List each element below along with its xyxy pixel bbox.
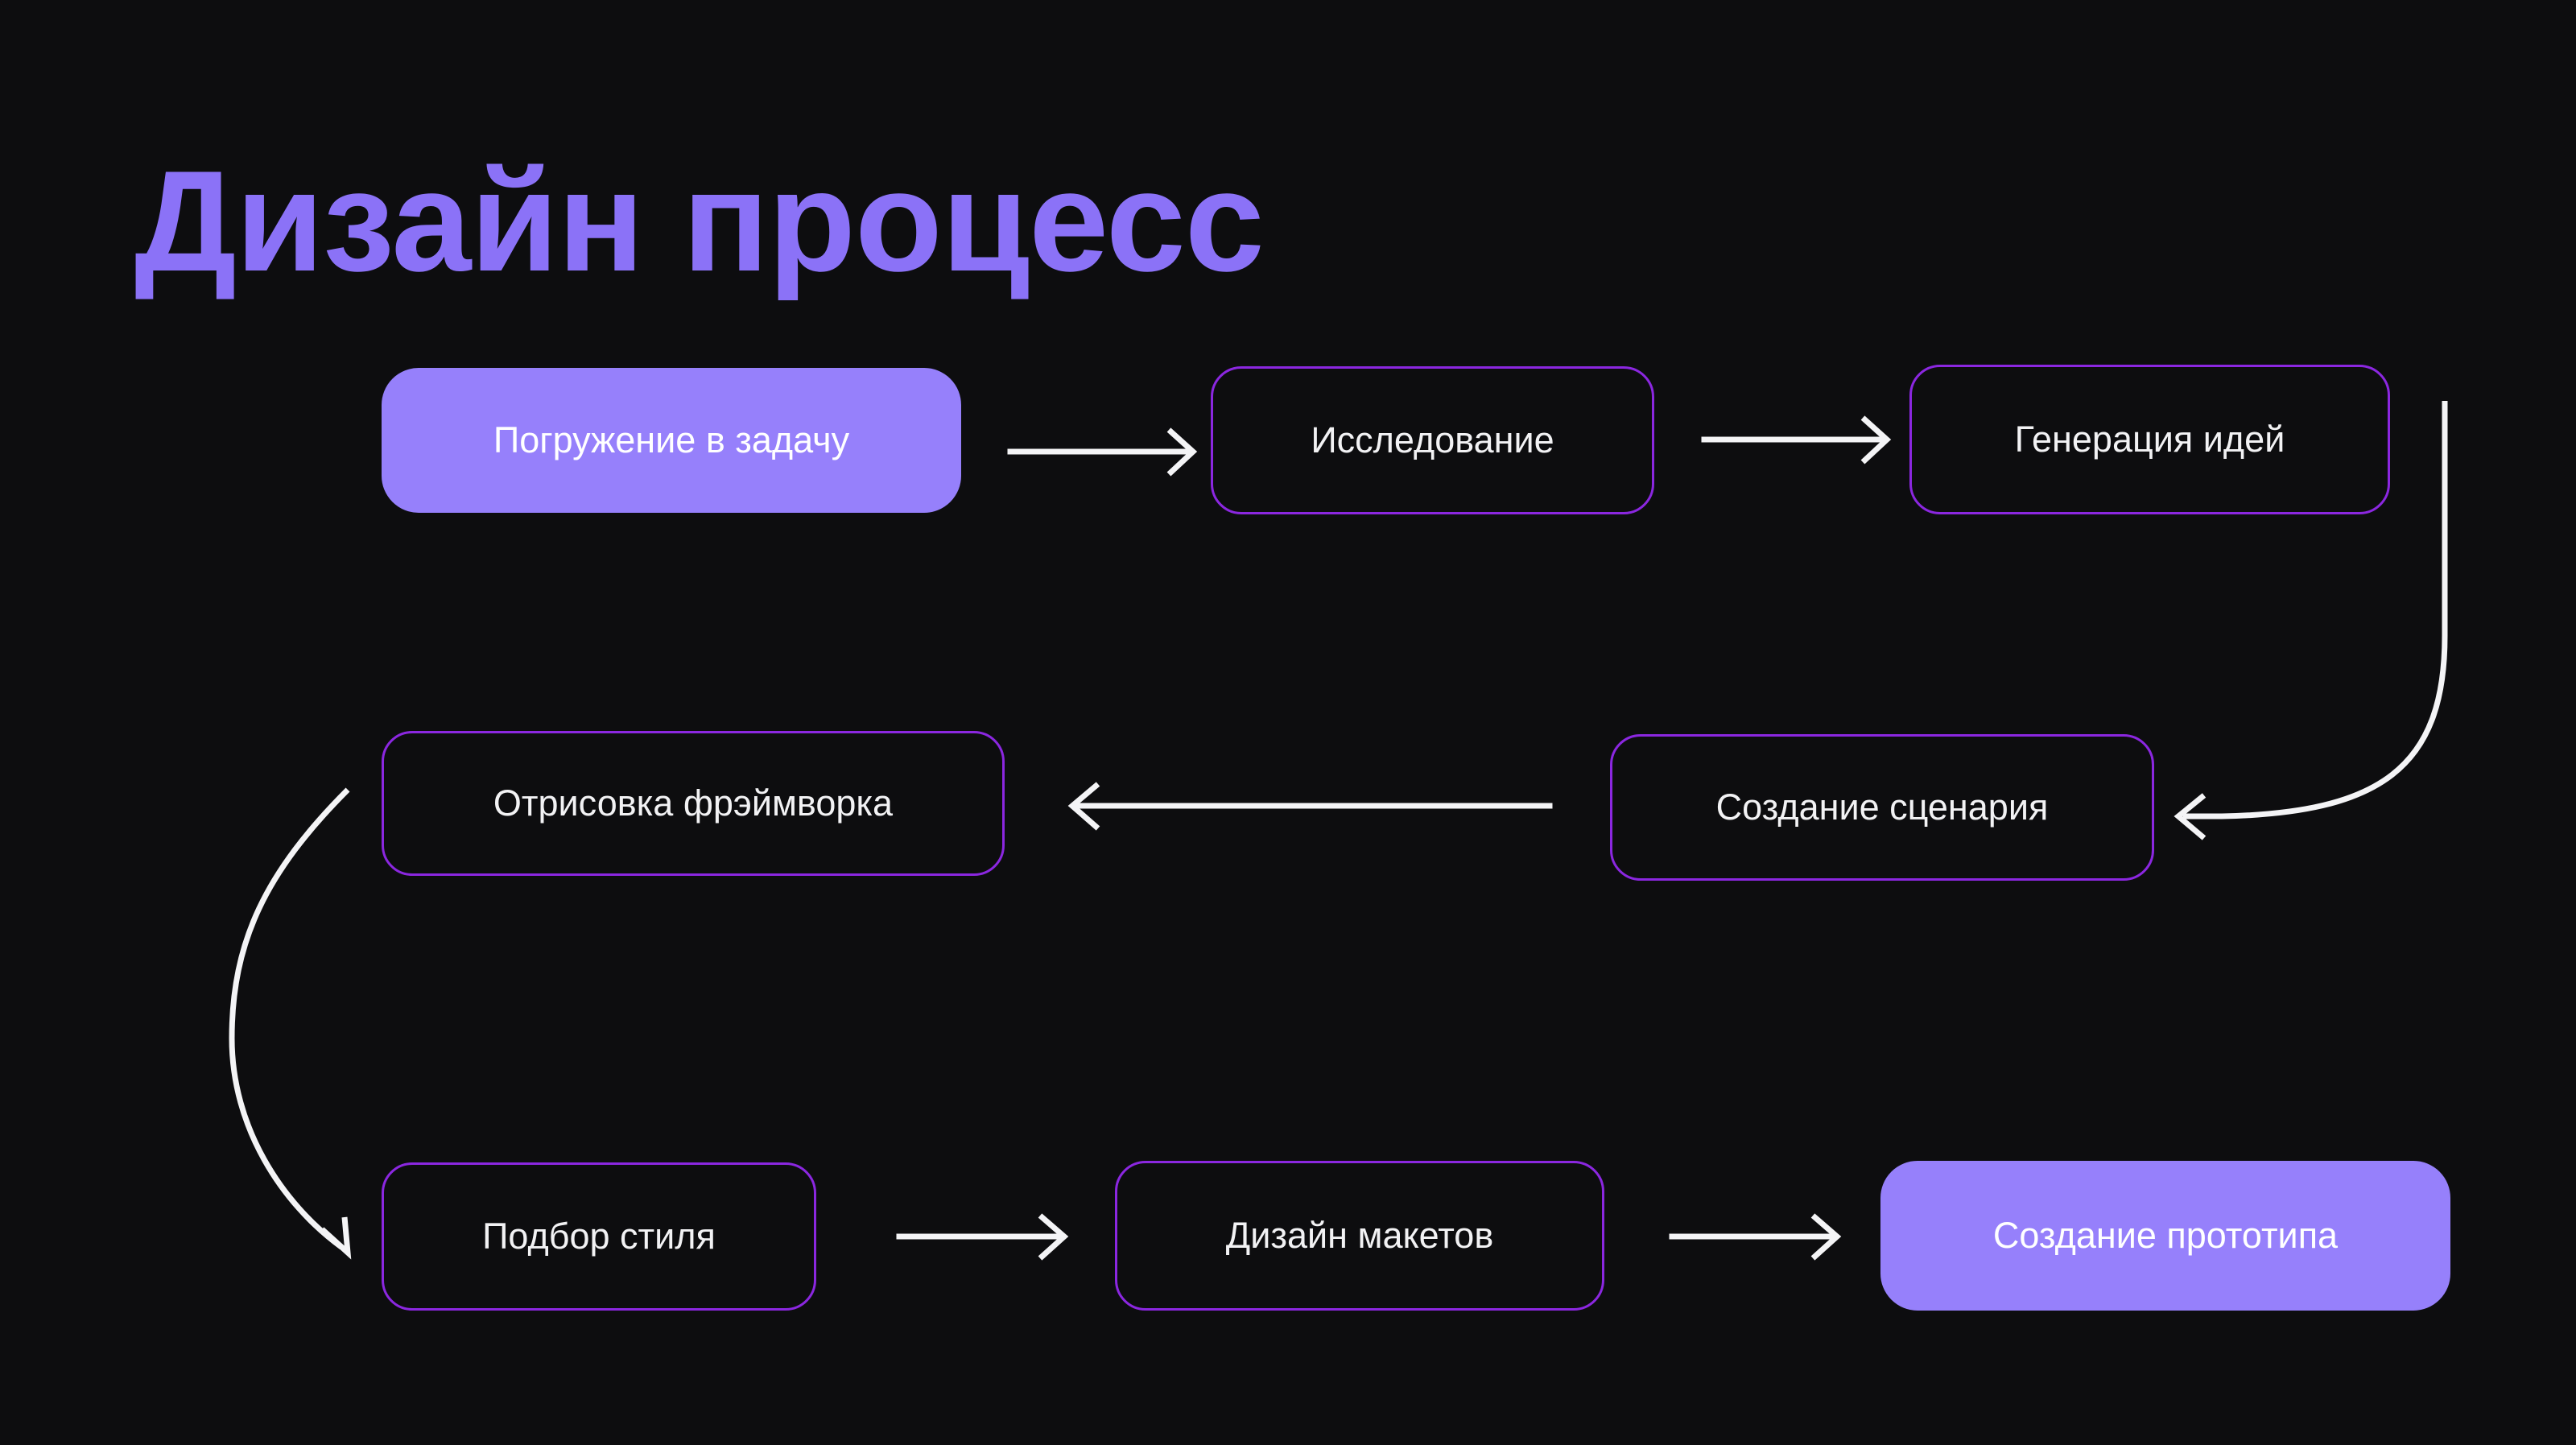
design-process-slide: Дизайн процесс Погружение в задачу Иссле… (0, 0, 2576, 1445)
flow-node-label: Подбор стиля (482, 1215, 716, 1258)
arrow-immersion-to-research (1010, 430, 1193, 474)
flow-node-label: Создание сценария (1716, 786, 2049, 829)
page-title: Дизайн процесс (134, 146, 1264, 298)
arrow-style-to-mockups (899, 1216, 1064, 1258)
flow-node-mockups[interactable]: Дизайн макетов (1115, 1161, 1604, 1311)
flow-node-style[interactable]: Подбор стиля (382, 1162, 816, 1311)
flow-node-framework[interactable]: Отрисовка фрэймворка (382, 731, 1005, 876)
flow-node-immersion[interactable]: Погружение в задачу (382, 368, 961, 513)
flow-node-label: Погружение в задачу (493, 419, 849, 462)
arrow-mockups-to-prototype (1672, 1216, 1837, 1258)
flow-node-label: Отрисовка фрэймворка (493, 782, 893, 825)
flow-node-label: Дизайн макетов (1226, 1214, 1494, 1257)
arrow-framework-to-style (232, 790, 348, 1253)
flow-node-prototype[interactable]: Создание прототипа (1880, 1161, 2450, 1311)
flow-node-ideation[interactable]: Генерация идей (1909, 365, 2390, 514)
flow-node-label: Создание прототипа (1993, 1214, 2338, 1257)
flow-node-scenario[interactable]: Создание сценария (1610, 734, 2154, 881)
arrow-scenario-to-framework (1072, 784, 1550, 828)
arrow-research-to-ideation (1704, 418, 1887, 462)
flow-node-research[interactable]: Исследование (1211, 366, 1654, 514)
flow-node-label: Исследование (1311, 419, 1554, 462)
flow-node-label: Генерация идей (2015, 418, 2285, 461)
